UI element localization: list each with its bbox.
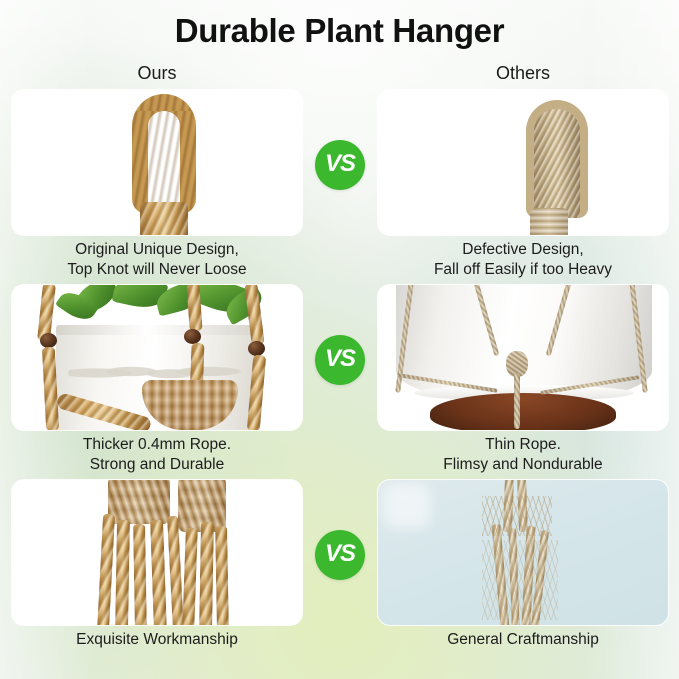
vs-badge-label: VS [325,152,355,176]
rope-strand [167,516,184,625]
caption-line: Thin Rope. [378,435,668,455]
caption-others-craft: General Craftmanship [378,630,668,650]
infographic-page: Durable Plant Hanger Ours Others [0,0,679,679]
product-image-ours-strands [12,480,302,625]
wooden-bead [184,329,201,344]
scene-others-pot [378,285,668,430]
frayed-fibers [482,540,558,620]
scene-ours-knot [12,90,302,235]
rope-loop-shape [132,94,196,214]
plant-foliage [52,285,262,329]
caption-others-knot: Defective Design, Fall off Easily if too… [378,240,668,281]
product-image-others-strands [378,480,668,625]
caption-line: Fall off Easily if too Heavy [378,260,668,280]
rope-tail-shape [140,202,188,235]
column-header-ours: Ours [12,63,302,84]
caption-ours-knot: Original Unique Design, Top Knot will Ne… [12,240,302,281]
product-image-ours-pot [12,285,302,430]
rope-strand [150,520,167,625]
caption-ours-craft: Exquisite Workmanship [12,630,302,650]
scene-others-strands [378,480,668,625]
wooden-bead [40,333,57,348]
caption-line: Exquisite Workmanship [12,630,302,650]
product-image-ours-knot [12,90,302,235]
product-image-others-knot [378,90,668,235]
vs-badge: VS [315,335,365,385]
caption-line: Thicker 0.4mm Rope. [12,435,302,455]
jute-string [514,373,520,429]
caption-line: Defective Design, [378,240,668,260]
scene-ours-pot [12,285,302,430]
column-header-others: Others [378,63,668,84]
wrapped-knot-shape [530,208,568,235]
rope-strand [115,520,130,625]
vs-badge-label: VS [325,347,355,371]
rope-strand [199,522,214,625]
rope-strand [182,528,198,625]
product-image-others-pot [378,285,668,430]
caption-line: Flimsy and Nondurable [378,455,668,475]
scene-others-knot [378,90,668,235]
rope-loop-shape [526,100,588,218]
rope-strand [133,524,147,625]
vs-badge: VS [315,530,365,580]
pot-brown-interior [430,393,616,430]
caption-others-rope: Thin Rope. Flimsy and Nondurable [378,435,668,476]
rope-strand [215,526,229,625]
page-title: Durable Plant Hanger [0,12,679,50]
caption-line: Original Unique Design, [12,240,302,260]
scene-ours-strands [12,480,302,625]
caption-line: General Craftmanship [378,630,668,650]
vs-badge: VS [315,140,365,190]
pot-rim [56,325,256,335]
caption-line: Top Knot will Never Loose [12,260,302,280]
caption-line: Strong and Durable [12,455,302,475]
background-highlight [384,484,430,528]
caption-ours-rope: Thicker 0.4mm Rope. Strong and Durable [12,435,302,476]
wooden-bead [248,341,265,356]
vs-badge-label: VS [325,542,355,566]
frayed-fibers [482,496,552,536]
rope-strand [97,514,115,625]
rope-knot-cluster [108,480,170,524]
